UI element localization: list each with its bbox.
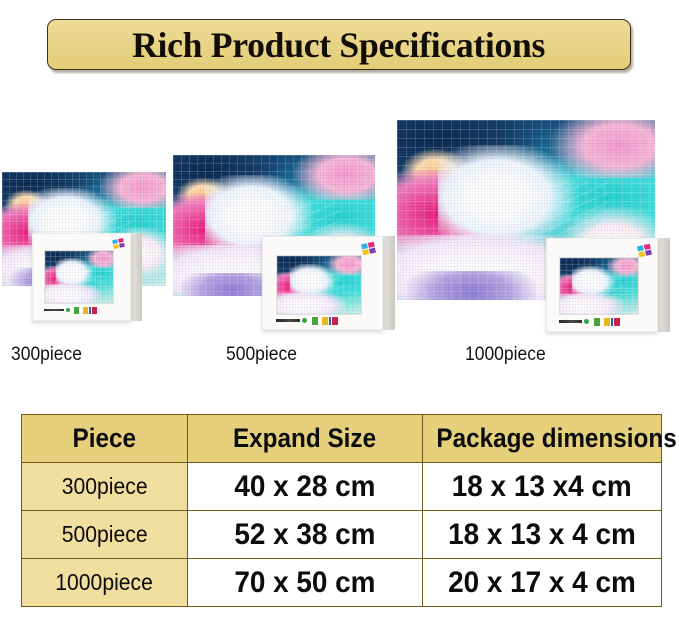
- puzzle-piece-logo-icon: [112, 238, 125, 249]
- brand-color-mark-icon: [74, 307, 97, 314]
- page-title-banner: Rich Product Specifications: [47, 19, 631, 70]
- mark-green: [312, 317, 318, 325]
- cell-piece-500: 500piece: [22, 511, 188, 559]
- table-header-expand-size: Expand Size: [188, 415, 423, 463]
- box-side-panel: [382, 236, 395, 330]
- product-box-1000: [546, 238, 670, 332]
- page-title: Rich Product Specifications: [132, 27, 545, 63]
- box-front-panel: [546, 238, 658, 332]
- puzzle-piece-logo-icon: [637, 244, 652, 257]
- box-front-panel: [32, 233, 131, 321]
- box-brand-bar: [276, 316, 346, 325]
- table-header-package-dimensions: Package dimensions: [423, 415, 662, 463]
- brand-dot-icon: [66, 308, 70, 312]
- brand-rule-icon: [559, 320, 582, 323]
- mark-blue: [329, 317, 331, 325]
- box-window-artwork: [559, 257, 639, 315]
- brand-dot-icon: [302, 318, 307, 323]
- logo-tile-yellow: [638, 251, 645, 257]
- cell-piece-1000: 1000piece: [22, 559, 188, 607]
- mark-blue: [611, 318, 613, 326]
- art-layer-pixel-noise: [45, 251, 113, 303]
- mark-white: [601, 318, 603, 326]
- table-row: 1000piece 70 x 50 cm 20 x 17 x 4 cm: [22, 559, 662, 607]
- mark-green: [74, 307, 79, 314]
- size-label-1000: 1000piece: [465, 344, 546, 366]
- box-window-artwork: [276, 255, 362, 315]
- table-header-piece: Piece: [22, 415, 188, 463]
- mark-blue: [89, 307, 91, 314]
- box-brand-bar: [559, 317, 627, 326]
- table-row: 300piece 40 x 28 cm 18 x 13 x4 cm: [22, 463, 662, 511]
- box-brand-bar: [44, 306, 104, 314]
- mark-white: [80, 307, 82, 314]
- box-side-panel: [130, 233, 142, 321]
- logo-tile-purple: [645, 250, 652, 256]
- mark-yellow: [604, 318, 610, 326]
- brand-dot-icon: [584, 319, 589, 324]
- logo-tile-purple: [369, 248, 376, 254]
- puzzle-piece-logo-icon: [361, 242, 376, 255]
- brand-color-mark-icon: [312, 317, 338, 325]
- mark-yellow: [322, 317, 328, 325]
- box-artwork-layers: [277, 256, 361, 314]
- cell-expand-size-1000: 70 x 50 cm: [188, 559, 423, 607]
- logo-tile-purple: [119, 243, 125, 248]
- art-layer-pixel-noise: [560, 258, 638, 314]
- mark-red: [332, 317, 338, 325]
- size-label-300: 300piece: [11, 344, 82, 366]
- cell-package-dimensions-1000: 20 x 17 x 4 cm: [423, 559, 662, 607]
- specifications-table: Piece Expand Size Package dimensions 300…: [21, 414, 662, 607]
- box-window-artwork: [44, 250, 114, 304]
- logo-tile-yellow: [362, 249, 369, 255]
- box-side-panel: [656, 238, 670, 332]
- box-artwork-layers: [560, 258, 638, 314]
- mark-yellow: [83, 307, 88, 314]
- table-row: 500piece 52 x 38 cm 18 x 13 x 4 cm: [22, 511, 662, 559]
- box-artwork-layers: [45, 251, 113, 303]
- cell-expand-size-500: 52 x 38 cm: [188, 511, 423, 559]
- table-header-row: Piece Expand Size Package dimensions: [22, 415, 662, 463]
- brand-color-mark-icon: [594, 318, 620, 326]
- cell-package-dimensions-500: 18 x 13 x 4 cm: [423, 511, 662, 559]
- size-label-500: 500piece: [226, 344, 297, 366]
- box-front-panel: [262, 236, 383, 330]
- brand-rule-icon: [44, 309, 64, 311]
- mark-green: [594, 318, 600, 326]
- product-box-300: [32, 233, 142, 321]
- cell-package-dimensions-300: 18 x 13 x4 cm: [423, 463, 662, 511]
- brand-rule-icon: [276, 319, 300, 322]
- mark-red: [614, 318, 620, 326]
- logo-tile-yellow: [113, 244, 119, 249]
- mark-white: [319, 317, 321, 325]
- art-layer-pixel-noise: [277, 256, 361, 314]
- cell-piece-300: 300piece: [22, 463, 188, 511]
- product-box-500: [262, 236, 395, 330]
- cell-expand-size-300: 40 x 28 cm: [188, 463, 423, 511]
- mark-red: [92, 307, 97, 314]
